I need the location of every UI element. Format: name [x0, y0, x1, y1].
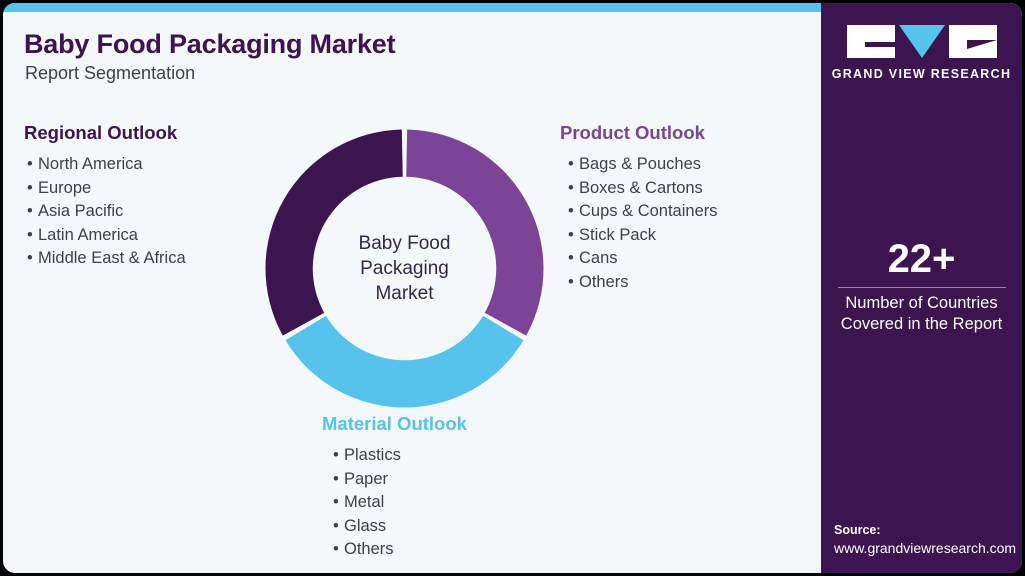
- countries-stat-block: 22+ Number of Countries Covered in the R…: [821, 237, 1022, 335]
- donut-segment[interactable]: [406, 130, 543, 336]
- page-title: Baby Food Packaging Market: [24, 29, 395, 60]
- list-item: Latin America: [27, 224, 186, 248]
- logo-wordmark: GRAND VIEW RESEARCH: [821, 67, 1022, 81]
- donut-segment[interactable]: [266, 130, 403, 336]
- list-item: Paper: [333, 468, 467, 492]
- segmentation-donut-chart: Baby Food Packaging Market: [264, 128, 545, 409]
- logo-v-triangle-icon: [899, 25, 945, 58]
- regional-outlook-heading: Regional Outlook: [24, 122, 186, 144]
- product-outlook-list: Bags & Pouches Boxes & Cartons Cups & Co…: [568, 153, 718, 294]
- source-url[interactable]: www.grandviewresearch.com: [834, 539, 1022, 558]
- brand-sidebar: GRAND VIEW RESEARCH 22+ Number of Countr…: [821, 3, 1022, 573]
- list-item: Glass: [333, 515, 467, 539]
- stat-value: 22+: [821, 237, 1022, 281]
- logo-r-notch: [967, 40, 997, 49]
- list-item: Others: [568, 271, 718, 295]
- list-item: Bags & Pouches: [568, 153, 718, 177]
- list-item: Plastics: [333, 444, 467, 468]
- logo-g-notch: [865, 42, 895, 47]
- list-item: Others: [333, 538, 467, 562]
- logo-g-icon: [847, 25, 895, 58]
- stat-label-line-2: Covered in the Report: [821, 314, 1022, 335]
- material-outlook-list: Plastics Paper Metal Glass Others: [333, 444, 467, 562]
- source-block: Source: www.grandviewresearch.com: [834, 522, 1022, 558]
- page-subtitle: Report Segmentation: [25, 63, 195, 84]
- stat-label-line-1: Number of Countries: [821, 293, 1022, 314]
- list-item: North America: [27, 153, 186, 177]
- list-item: Cups & Containers: [568, 200, 718, 224]
- main-content: Baby Food Packaging Market Report Segmen…: [3, 12, 821, 573]
- regional-outlook-block: Regional Outlook North America Europe As…: [24, 122, 186, 271]
- list-item: Asia Pacific: [27, 200, 186, 224]
- list-item: Cans: [568, 247, 718, 271]
- material-outlook-block: Material Outlook Plastics Paper Metal Gl…: [325, 413, 467, 562]
- brand-logo: GRAND VIEW RESEARCH: [821, 25, 1022, 81]
- donut-svg: [264, 128, 545, 409]
- list-item: Metal: [333, 491, 467, 515]
- material-outlook-heading: Material Outlook: [322, 413, 467, 435]
- stat-divider: [838, 287, 1006, 288]
- donut-segment[interactable]: [285, 316, 523, 408]
- list-item: Europe: [27, 177, 186, 201]
- report-card: Baby Food Packaging Market Report Segmen…: [3, 3, 1022, 573]
- list-item: Middle East & Africa: [27, 247, 186, 271]
- source-title: Source:: [834, 522, 1022, 539]
- logo-r-icon: [949, 25, 997, 58]
- logo-marks: [847, 25, 997, 58]
- regional-outlook-list: North America Europe Asia Pacific Latin …: [27, 153, 186, 271]
- list-item: Boxes & Cartons: [568, 177, 718, 201]
- list-item: Stick Pack: [568, 224, 718, 248]
- product-outlook-heading: Product Outlook: [560, 122, 718, 144]
- infographic-root: Baby Food Packaging Market Report Segmen…: [0, 0, 1025, 576]
- product-outlook-block: Product Outlook Bags & Pouches Boxes & C…: [560, 122, 718, 294]
